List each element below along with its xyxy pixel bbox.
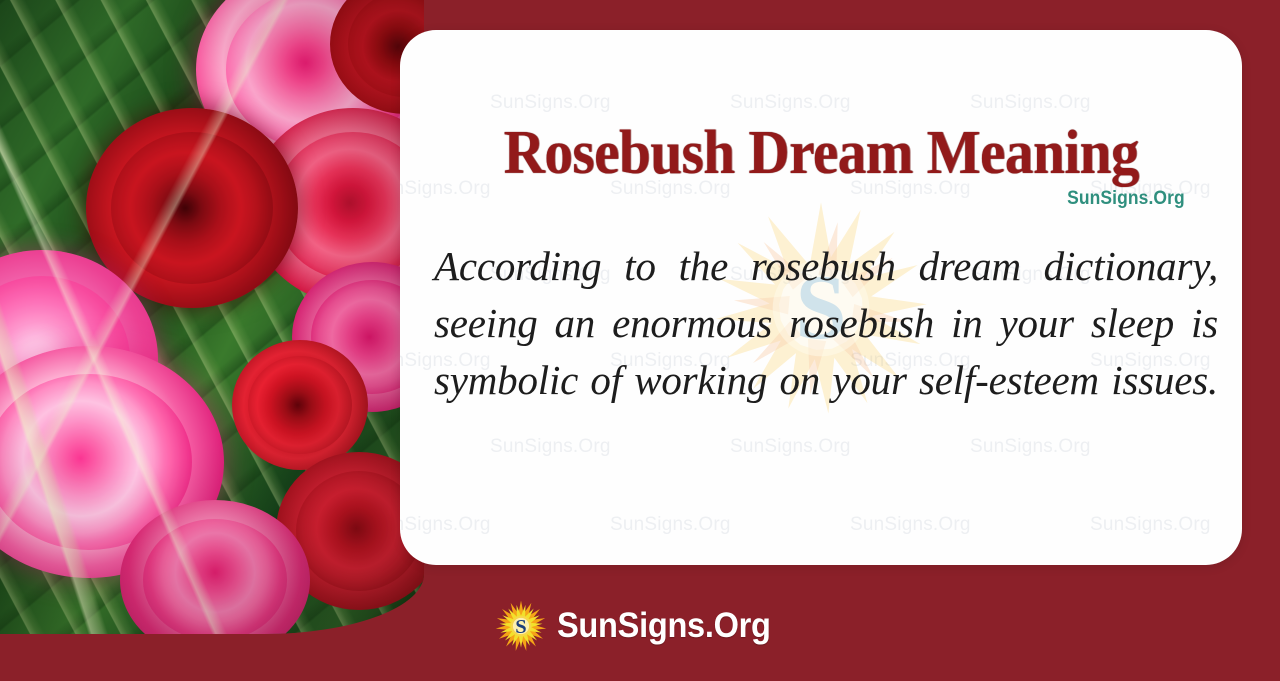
site-logo[interactable]: S SunSigns.Org bbox=[0, 599, 1280, 653]
title-watermark: SunSigns.Org bbox=[1067, 188, 1185, 210]
content-card: SunSigns.Org SunSigns.Org SunSigns.Org S… bbox=[400, 30, 1242, 565]
svg-text:S: S bbox=[515, 616, 526, 638]
body-paragraph: According to the rosebush dream dictiona… bbox=[434, 238, 1218, 466]
watermark-text: SunSigns.Org bbox=[610, 514, 731, 536]
sun-logo-icon: S bbox=[494, 599, 548, 653]
watermark-text: SunSigns.Org bbox=[490, 92, 611, 114]
watermark-text: SunSigns.Org bbox=[850, 514, 971, 536]
page-title: Rosebush Dream Meaning bbox=[400, 122, 1242, 184]
page-title-text: Rosebush Dream Meaning bbox=[503, 122, 1138, 184]
site-logo-text: SunSigns.Org bbox=[557, 606, 771, 646]
rose-bouquet-photo bbox=[0, 0, 424, 634]
watermark-text: SunSigns.Org bbox=[400, 514, 491, 536]
watermark-text: SunSigns.Org bbox=[970, 92, 1091, 114]
watermark-text: SunSigns.Org bbox=[730, 92, 851, 114]
watermark-text: SunSigns.Org bbox=[1090, 514, 1211, 536]
body-paragraph-last-line: working on your self-esteem issues. bbox=[634, 357, 1218, 403]
poster-canvas: SunSigns.Org SunSigns.Org SunSigns.Org S… bbox=[0, 0, 1280, 681]
photo-vignette bbox=[0, 0, 424, 634]
